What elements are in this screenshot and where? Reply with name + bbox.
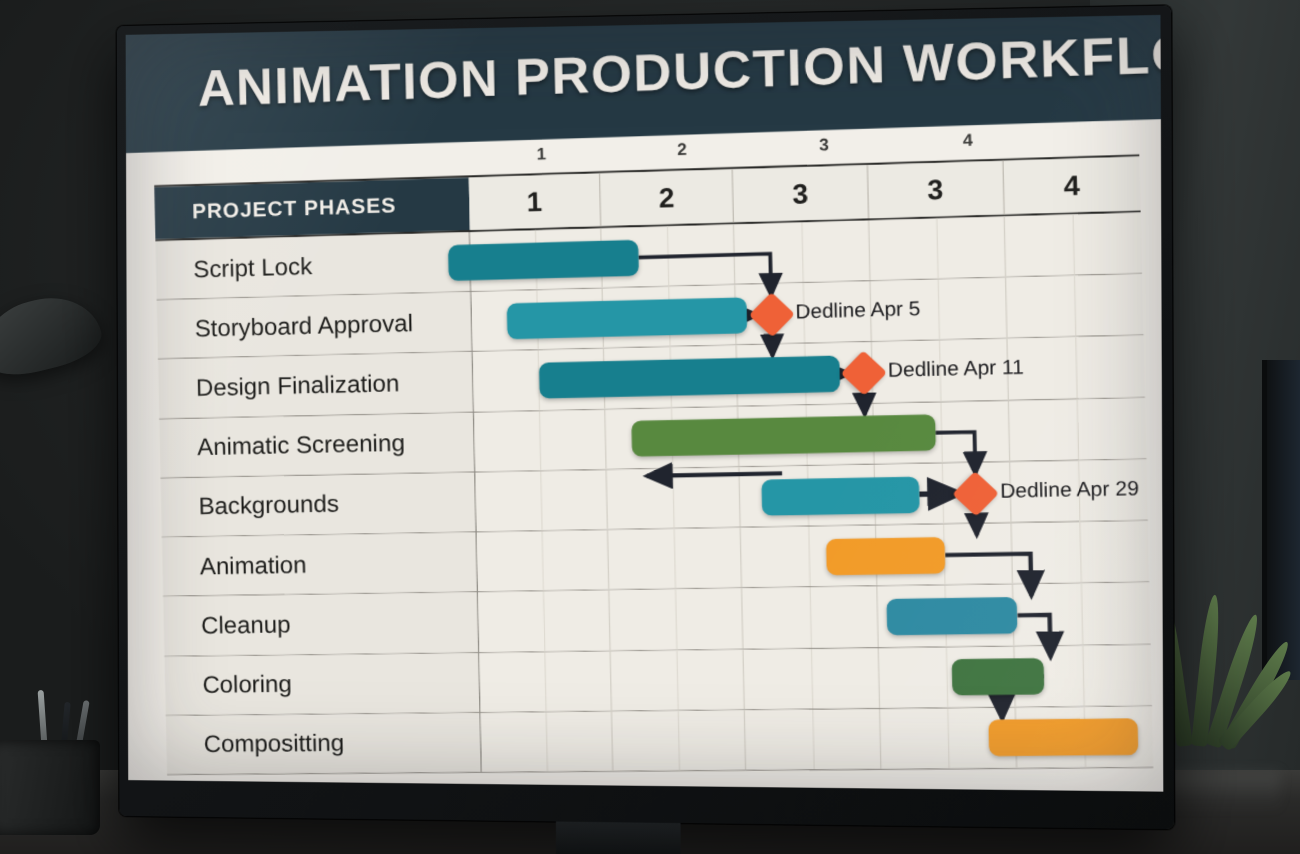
grid-cell: [739, 465, 875, 527]
desk-lamp-head: [0, 287, 107, 384]
grid-cell: [607, 528, 741, 590]
grid-cell: [736, 343, 872, 406]
phase-label: Animation: [162, 532, 478, 596]
grid-cell: [868, 217, 1005, 281]
grid-cell: [737, 404, 873, 467]
grid-cell: [741, 587, 877, 649]
grid-cell: [876, 585, 1013, 647]
timeline-header-cell-4[interactable]: 3: [866, 161, 1003, 219]
phase-label: Animatic Screening: [159, 412, 475, 477]
grid-cell: [479, 651, 611, 712]
gantt-row-track: [475, 459, 1147, 531]
grid-cell: [870, 339, 1007, 402]
grid-cell: [1006, 336, 1145, 400]
phase-label: Script Lock: [155, 232, 471, 299]
grid-cell: [600, 224, 734, 287]
grid-cell: [1010, 521, 1149, 584]
presentation-slide: ANIMATION PRODUCTION WORKFLOW 1234 PROJE…: [126, 15, 1164, 792]
gantt-rows: Script LockStoryboard ApprovalDesign Fin…: [155, 213, 1153, 776]
phase-label: Backgrounds: [161, 472, 477, 536]
grid-cell: [873, 462, 1010, 525]
grid-cell: [1014, 706, 1153, 768]
secondary-tick-label: 3: [819, 136, 829, 155]
gantt-row[interactable]: Coloring: [165, 644, 1152, 715]
gantt-row[interactable]: Compositting: [166, 706, 1153, 775]
grid-cell: [733, 220, 869, 284]
grid-cell: [473, 349, 605, 411]
grid-cell: [608, 589, 742, 650]
grid-cell: [735, 281, 871, 344]
secondary-tick-label: 4: [963, 132, 973, 152]
grid-cell: [470, 228, 602, 291]
monitor-screen: ANIMATION PRODUCTION WORKFLOW 1234 PROJE…: [126, 15, 1164, 792]
grid-cell: [602, 285, 736, 348]
phase-label: Design Finalization: [158, 352, 474, 418]
grid-cell: [879, 707, 1016, 768]
timeline-header-cell-1[interactable]: 1: [469, 173, 601, 230]
phase-label: Cleanup: [163, 592, 479, 655]
grid-cell: [872, 401, 1009, 464]
timeline-header-cell-5[interactable]: 4: [1002, 156, 1140, 214]
grid-cell: [743, 648, 879, 709]
grid-cell: [610, 649, 744, 710]
grid-cell: [478, 591, 610, 652]
desk-lamp-arm: [6, 352, 44, 582]
gantt-row-track: [477, 521, 1149, 591]
pen-cup: [0, 740, 100, 835]
phase-label: Compositting: [166, 713, 482, 774]
grid-cell: [869, 278, 1006, 342]
phase-label: Coloring: [165, 653, 481, 715]
wall-picture-frame: [1262, 360, 1300, 680]
page-title: ANIMATION PRODUCTION WORKFLOW: [197, 22, 1163, 118]
gantt-row-track: [478, 583, 1150, 652]
grid-cell: [1012, 583, 1151, 645]
gantt-row-track: [481, 706, 1154, 772]
grid-cell: [474, 409, 606, 471]
grid-cell: [475, 470, 607, 532]
grid-cell: [1008, 398, 1147, 461]
grid-cell: [1003, 213, 1142, 277]
grid-cell: [877, 646, 1014, 708]
grid-cell: [1009, 459, 1148, 522]
grid-cell: [875, 523, 1012, 585]
grid-cell: [740, 526, 876, 588]
grid-cell: [481, 711, 613, 771]
grid-cell: [1013, 644, 1152, 706]
grid-cell: [1005, 274, 1144, 338]
grid-cell: [604, 406, 738, 468]
grid-cell: [477, 530, 609, 591]
gantt-row-track: [479, 644, 1152, 711]
grid-cell: [744, 709, 880, 770]
secondary-tick-label: 2: [677, 141, 687, 160]
phases-column-header: PROJECT PHASES: [154, 178, 470, 240]
grid-cell: [603, 346, 737, 409]
grid-cell: [471, 289, 603, 351]
grid-cell: [606, 467, 740, 529]
monitor-stand: [556, 822, 681, 854]
timeline-header-cell-2[interactable]: 2: [599, 169, 733, 226]
secondary-tick-label: 1: [537, 146, 547, 165]
gantt-chart: 1234 PROJECT PHASES 12334 Script LockSto…: [154, 154, 1153, 775]
timeline-header-cell-3[interactable]: 3: [732, 165, 868, 222]
computer-monitor: ANIMATION PRODUCTION WORKFLOW 1234 PROJE…: [117, 5, 1175, 829]
phase-label: Storyboard Approval: [157, 292, 473, 359]
grid-cell: [611, 710, 745, 771]
